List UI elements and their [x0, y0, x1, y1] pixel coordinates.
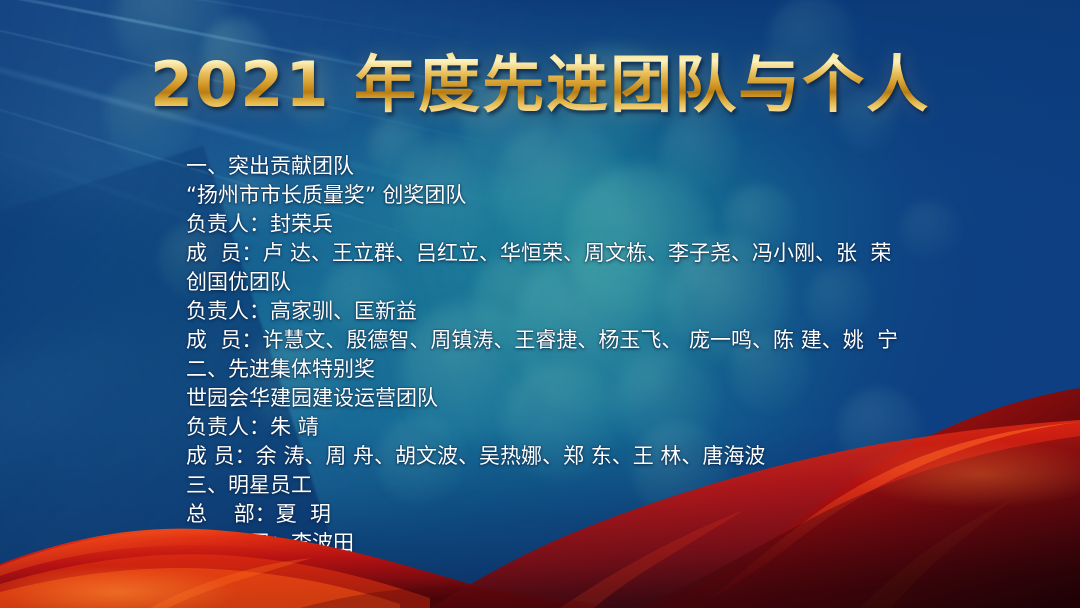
page-title: 2021 年度先进团队与个人 — [150, 52, 930, 117]
red-silk-ribbon — [0, 378, 1080, 608]
award-line: 一、突出贡献团队 — [186, 152, 946, 181]
award-line: 负责人：封荣兵 — [186, 210, 946, 239]
award-line: 创国优团队 — [186, 268, 946, 297]
title-block: 2021 年度先进团队与个人 — [0, 52, 1080, 117]
award-line: 成 员：许慧文、殷德智、周镇涛、王睿捷、杨玉飞、 庞一鸣、陈 建、姚 宁 — [186, 326, 946, 355]
award-line: 成 员：卢 达、王立群、吕红立、华恒荣、周文栋、李子尧、冯小刚、张 荣 — [186, 239, 946, 268]
award-slide: 2021 年度先进团队与个人 一、突出贡献团队“扬州市市长质量奖” 创奖团队负责… — [0, 0, 1080, 608]
award-line: 负责人：高家驯、匡新益 — [186, 297, 946, 326]
award-line: “扬州市市长质量奖” 创奖团队 — [186, 181, 946, 210]
